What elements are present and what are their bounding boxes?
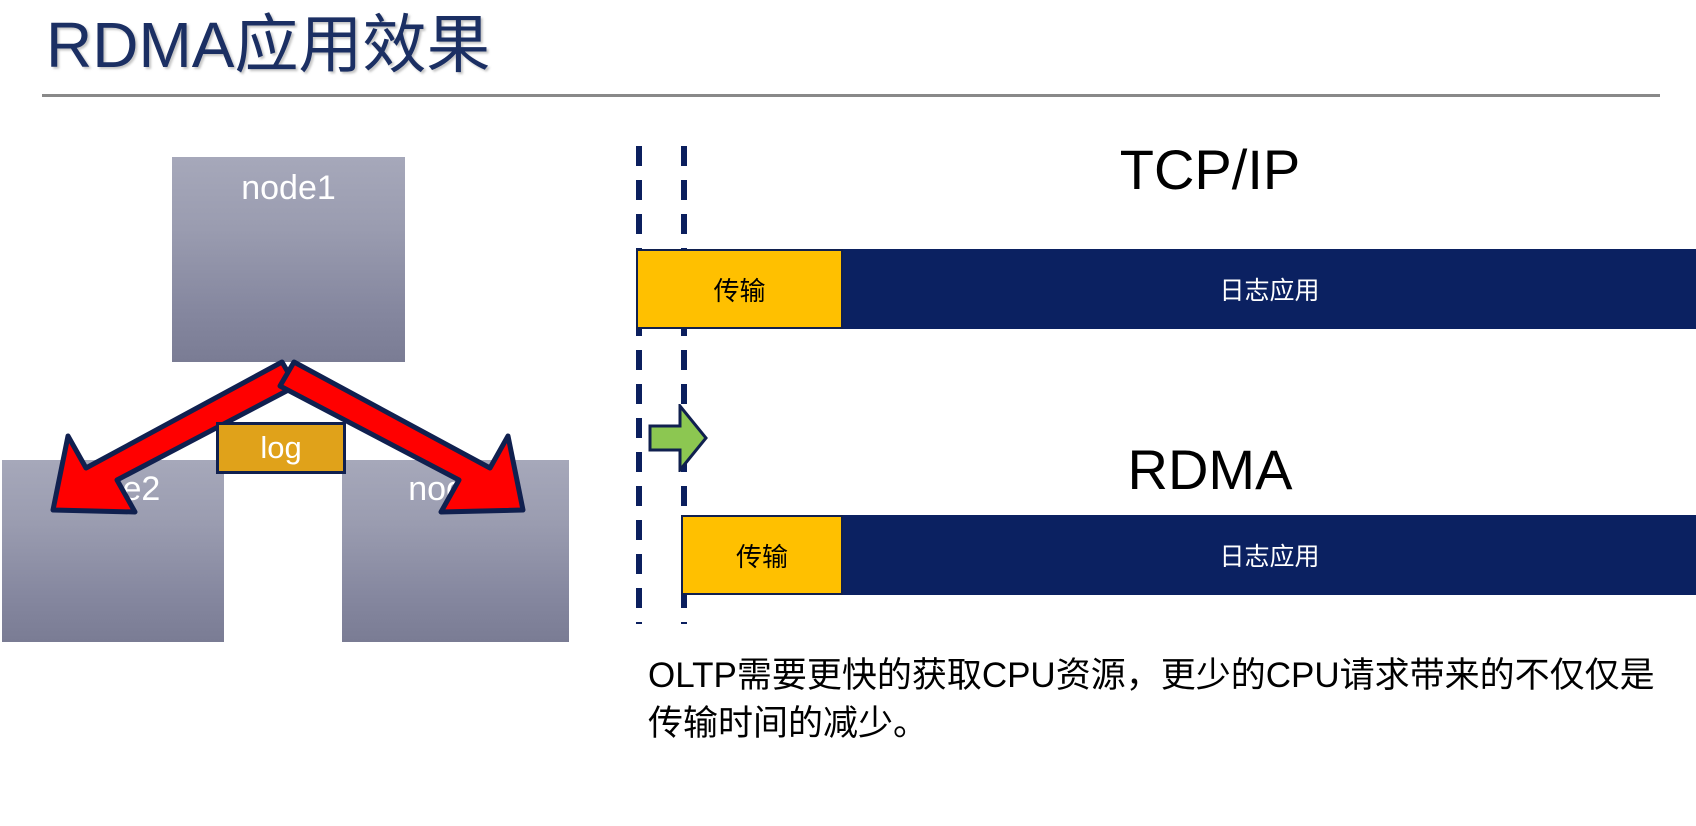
page-title: RDMA应用效果: [46, 2, 490, 88]
timing-bar-tcpip: 传输 日志应用: [636, 249, 1696, 329]
protocol-label-tcpip: TCP/IP: [1000, 142, 1420, 198]
caption-text: OLTP需要更快的获取CPU资源，更少的CPU请求带来的不仅仅是传输时间的减少。: [648, 652, 1684, 748]
timing-segment-apply-tcpip: 日志应用: [843, 249, 1696, 329]
timing-segment-transfer-rdma: 传输: [681, 515, 843, 595]
timing-marker-line-start: [636, 146, 642, 624]
protocol-label-rdma: RDMA: [1000, 442, 1420, 498]
timing-segment-apply-rdma: 日志应用: [843, 515, 1696, 595]
improvement-arrow-icon: [646, 404, 708, 472]
node1-label: node1: [172, 171, 405, 205]
node-box-node1: node1: [172, 157, 405, 362]
timing-segment-transfer-tcpip: 传输: [636, 249, 843, 329]
title-divider: [42, 94, 1660, 97]
timing-bar-rdma: 传输 日志应用: [681, 515, 1696, 595]
slide-canvas: RDMA应用效果 node1 node2 node3 log TCP/IP 传输…: [0, 0, 1696, 826]
log-label: log: [260, 430, 301, 465]
log-box: log: [216, 422, 346, 474]
